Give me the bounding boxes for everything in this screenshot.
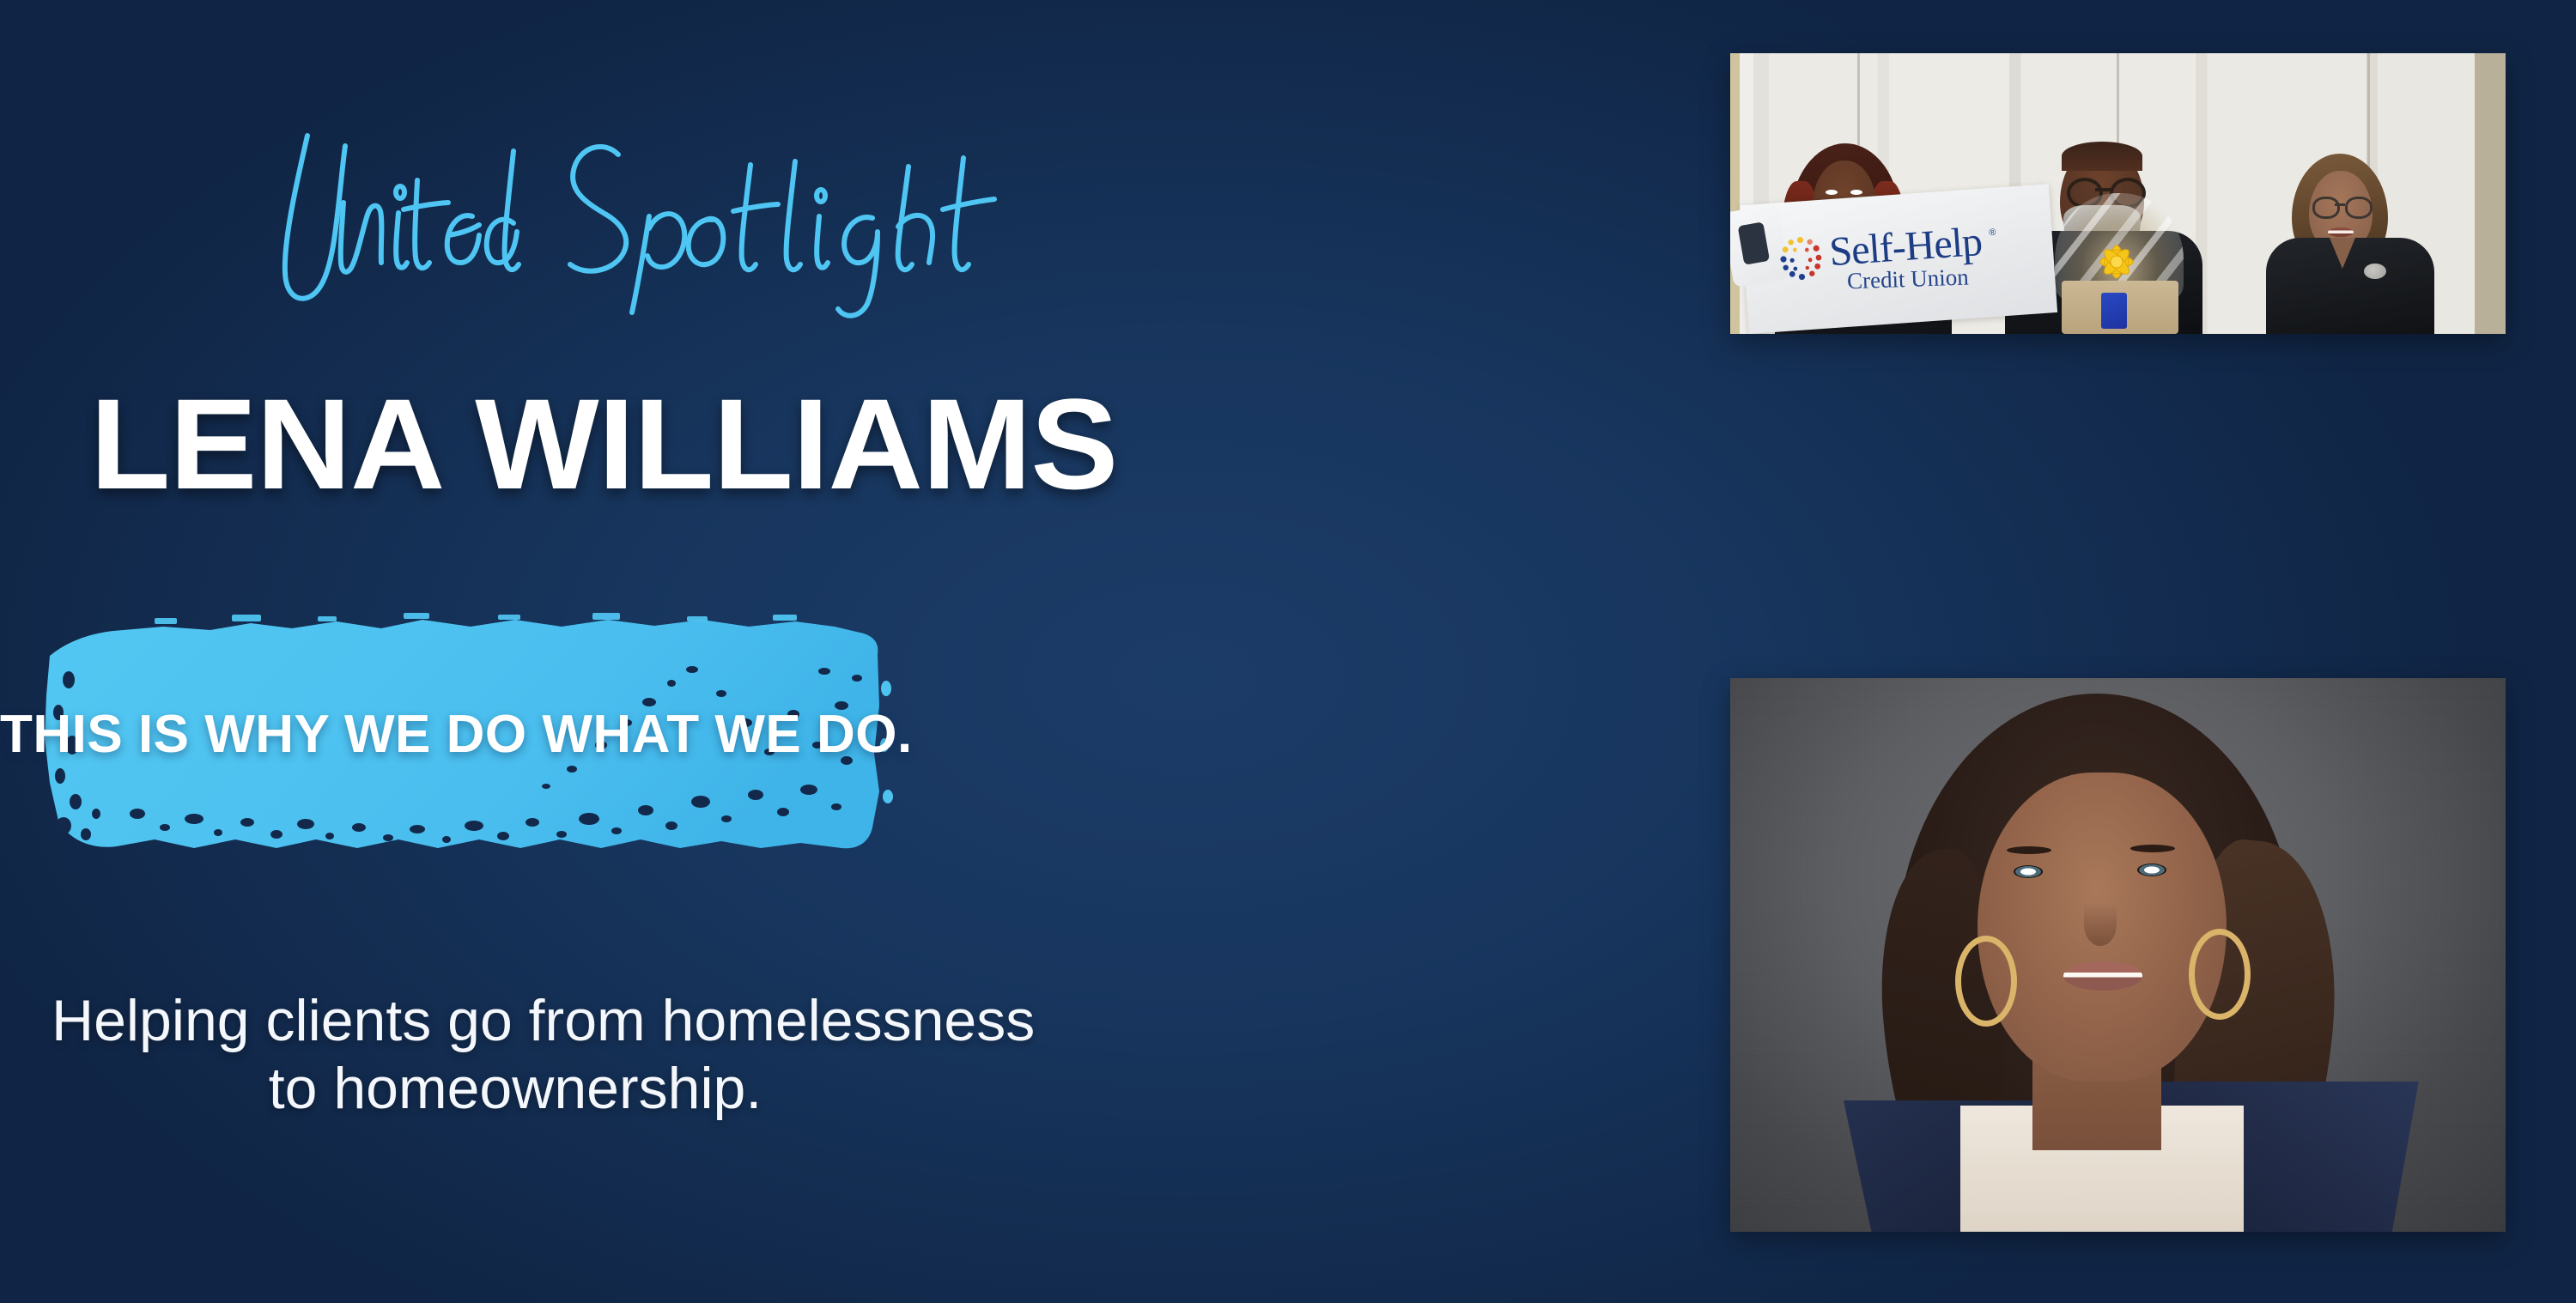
subtitle-line-2: to homeownership.: [52, 1055, 979, 1123]
banner-tagline: THIS IS WHY WE DO WHAT WE DO.: [0, 704, 867, 765]
left-text-column: LENA WILLIAMS: [0, 0, 1717, 1303]
shirt: [2266, 238, 2434, 334]
portrait-brow-right: [2130, 845, 2175, 852]
portrait-brow-left: [2007, 846, 2051, 854]
glasses-bridge: [2095, 188, 2111, 191]
bald-head: [2062, 142, 2142, 171]
self-help-sign: Self-Help ® Credit Union: [1741, 184, 2058, 334]
script-headline: [215, 120, 1125, 318]
self-help-logo-icon: [1777, 234, 1826, 284]
glasses-lens-left: [2312, 197, 2340, 219]
person-right: [2263, 142, 2451, 334]
promo-graphic: LENA WILLIAMS: [0, 0, 2576, 1303]
eye-left: [1826, 190, 1838, 195]
eye-right: [1850, 190, 1862, 195]
sign-registered-mark: ®: [1989, 227, 1996, 239]
group-photo: Self-Help ® Credit Union: [1730, 53, 2506, 334]
portrait-hoop-earring-right: [2189, 929, 2251, 1020]
blue-gift-item: [2101, 293, 2127, 329]
subtitle: Helping clients go from homelessness to …: [52, 987, 979, 1123]
shirt-logo: [2364, 264, 2386, 279]
page-title: LENA WILLIAMS: [90, 379, 1229, 508]
gift-bow-icon: [2094, 239, 2139, 284]
script-word-united: [285, 136, 519, 299]
script-headline-svg: [215, 120, 1125, 318]
portrait-eye-right: [2137, 864, 2166, 876]
script-word-spotlight: [570, 147, 994, 316]
glasses-bridge: [2335, 203, 2345, 206]
portrait-hoop-earring-left: [1955, 936, 2017, 1027]
subtitle-line-1: Helping clients go from homelessness: [52, 987, 979, 1055]
portrait-eye-left: [2014, 865, 2043, 878]
sign-subtitle: Credit Union: [1847, 264, 1970, 294]
glasses-lens-right: [2345, 197, 2372, 219]
mouth: [2328, 227, 2354, 237]
portrait-photo: [1730, 678, 2506, 1232]
portrait-nose: [2084, 903, 2117, 946]
portrait-lips: [2063, 961, 2142, 991]
